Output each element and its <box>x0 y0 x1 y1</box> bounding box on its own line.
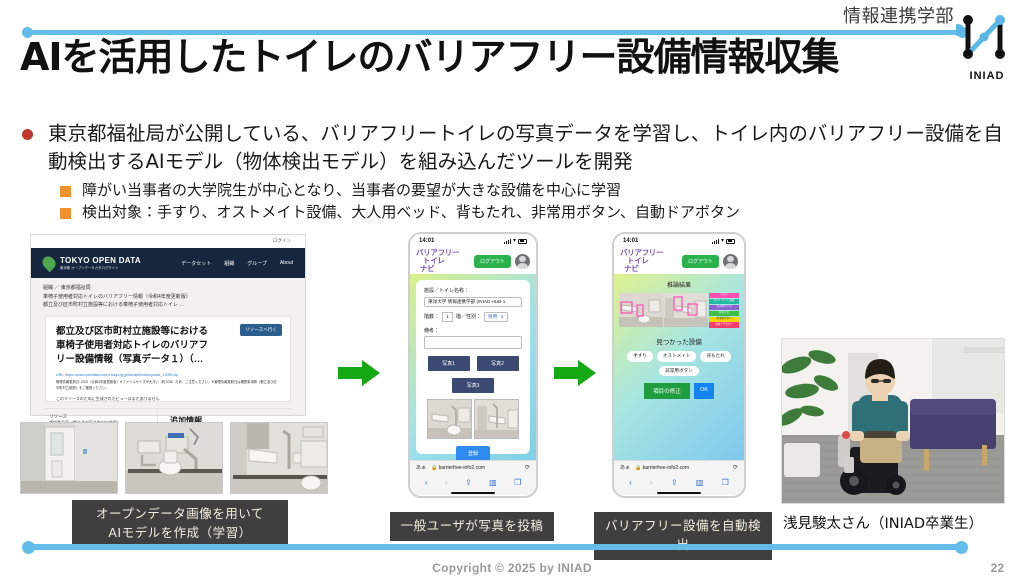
sub-bullet-2: 検出対象：手すり、オストメイト設備、大人用ベッド、背もたれ、非常用ボタン、自動ド… <box>60 203 740 222</box>
opendata-card-url[interactable]: URL: https://www.opendata.metro.tokyo.lg… <box>56 373 280 377</box>
square-bullet-icon <box>60 186 71 197</box>
phone2-url-text: barrierfree-info2.com <box>643 465 689 471</box>
floor-gender-row: 階数： 1 階／性別： 男用 ⇅ <box>424 312 522 322</box>
phone2-url[interactable]: 🔒 barrierfree-info2.com <box>635 465 689 471</box>
slide: 情報連携学部 AIを活用したトイレのバリアフリー設備情報収集 INIAD 東京都… <box>0 0 1024 580</box>
main-bullet-text: 東京都福祉局が公開している、バリアフリートイレの写真データを学習し、トイレ内のバ… <box>48 120 1012 175</box>
opendata-brand: TOKYO OPEN DATA 東京都 オープンデータカタログサイト <box>60 256 141 270</box>
phone-post-photo: 14:01 ▾ バリアフリー トイレ ナビ ログアウト 施設／トイレ名称： 東洋… <box>408 232 538 498</box>
phone2-status-bar: 14:01 ▾ <box>614 234 744 248</box>
result-images: 手すり オストメイト設備 大人用ベッド 背もたれ 非常用ボタン 自動ドアボタン <box>619 293 739 328</box>
phone2-content: 推論結果 <box>614 274 744 460</box>
note-field-input[interactable] <box>424 336 522 349</box>
toilet-door-photo <box>21 423 118 494</box>
arrow-step-1-to-2 <box>336 358 382 388</box>
page-title: AIを活用したトイレのバリアフリー設備情報収集 <box>20 26 839 81</box>
gender-field-label: 階／性別： <box>456 313 481 320</box>
phone1-url[interactable]: 🔒 barrierfree-info2.com <box>431 465 485 471</box>
page-number: 22 <box>991 561 1004 575</box>
photo-3-button[interactable]: 写真3 <box>452 378 494 393</box>
result-action-row: 項目の修正 OK <box>619 383 739 399</box>
phone2-browser-toolbar: ‹ › ⇪ ▥ ❐ <box>614 474 744 490</box>
share-icon[interactable]: ⇪ <box>671 478 678 487</box>
uploaded-photo-1[interactable] <box>427 399 472 439</box>
back-icon[interactable]: ‹ <box>629 478 632 487</box>
legend-item-4: 非常用ボタン <box>709 317 739 322</box>
phone1-url-text: barrierfree-info2.com <box>439 465 485 471</box>
edit-items-button[interactable]: 項目の修正 <box>644 383 690 399</box>
breadcrumb-line-2[interactable]: 車椅子使用者対応トイレのバリアフリー情報（令和4年度更新版） <box>43 293 293 302</box>
wifi-icon: ▾ <box>721 238 724 244</box>
chip-handrail[interactable]: 手すり <box>627 351 653 362</box>
wheelchair-user-photo <box>782 339 1005 504</box>
right-arrow-icon <box>552 358 598 388</box>
arrow-step-2-to-3 <box>552 358 598 388</box>
phone1-browser-toolbar: ‹ › ⇪ ▥ ❐ <box>410 474 536 490</box>
phone2-clock: 14:01 <box>623 238 638 244</box>
tabs-icon[interactable]: ❐ <box>722 478 729 487</box>
signal-icon <box>504 239 511 244</box>
detected-photo-a <box>619 293 663 327</box>
floor-field-input[interactable]: 1 <box>442 312 453 322</box>
legend-item-2: 大人用ベッド <box>709 305 739 310</box>
toilet-handrail-photo <box>126 423 223 494</box>
right-arrow-icon <box>336 358 382 388</box>
phone1-status-bar: 14:01 ▾ <box>410 234 536 248</box>
opendata-menu-group[interactable]: グループ <box>247 260 267 267</box>
app-logo-line-3: ナビ <box>620 265 663 273</box>
footer-rule <box>22 543 968 551</box>
post-form: 施設／トイレ名称： 東洋大学 情報連携学部 (INIAD HUB-1 階数： 1… <box>416 280 530 454</box>
gender-select[interactable]: 男用 ⇅ <box>484 312 508 322</box>
chip-emergency-button[interactable]: 非常用ボタン <box>659 366 699 377</box>
result-image-1 <box>619 293 663 327</box>
found-facilities-chips: 手すり オストメイト 背もたれ <box>619 351 739 362</box>
logout-button[interactable]: ログアウト <box>682 255 719 268</box>
goto-resource-button[interactable]: リソースへ行く <box>240 324 282 336</box>
battery-icon <box>726 239 735 244</box>
iniad-logo: INIAD <box>956 6 1018 82</box>
place-field-input[interactable]: 東洋大学 情報連携学部 (INIAD HUB-1 <box>424 297 522 307</box>
legend-item-3: 背もたれ <box>709 311 739 316</box>
gender-select-value: 男用 <box>488 314 497 320</box>
sub-bullet-1-text: 障がい当事者の大学院生が中心となり、当事者の要望が大きな設備を中心に学習 <box>82 181 621 200</box>
copyright: Copyright © 2025 by INIAD <box>0 561 1024 575</box>
share-icon[interactable]: ⇪ <box>465 478 472 487</box>
chevron-down-icon: ⇅ <box>500 314 503 319</box>
opendata-menu-org[interactable]: 組織 <box>224 260 234 267</box>
sub-bullet-2-text: 検出対象：手すり、オストメイト設備、大人用ベッド、背もたれ、非常用ボタン、自動ド… <box>82 203 740 222</box>
uploaded-photo-previews <box>424 399 522 439</box>
person-photo <box>781 338 1005 504</box>
detection-legend: 手すり オストメイト設備 大人用ベッド 背もたれ 非常用ボタン 自動ドアボタン <box>709 293 739 328</box>
reload-icon[interactable]: ⟳ <box>733 464 738 471</box>
legend-item-1: オストメイト設備 <box>709 299 739 304</box>
bookmarks-icon[interactable]: ▥ <box>696 478 704 487</box>
iniad-logo-text: INIAD <box>956 70 1018 82</box>
caption-person: 浅見駿太さん（INIAD卒業生） <box>783 512 983 533</box>
photo-button-row-2: 写真3 <box>424 378 522 393</box>
opendata-menu: データセット 組織 グループ About <box>181 260 293 267</box>
bullet-dot-icon <box>22 129 33 140</box>
opendata-menu-dataset[interactable]: データセット <box>181 260 211 267</box>
phone1-clock: 14:01 <box>419 238 434 244</box>
detected-photo-b <box>664 293 708 327</box>
opendata-card-title: 都立及び区市町村立施設等における車椅子使用者対応トイレのバリアフリー設備情報（写… <box>56 325 217 368</box>
photo-button-row-1: 写真1 写真2 <box>424 356 522 371</box>
found-facilities-chips-row2: 非常用ボタン <box>619 366 739 377</box>
leaf-icon <box>40 254 58 272</box>
phone2-home-indicator <box>614 490 744 495</box>
submit-button[interactable]: 登録 <box>456 446 490 461</box>
thumbnail-sink-area <box>230 422 328 494</box>
wifi-icon: ▾ <box>513 238 516 244</box>
forward-icon[interactable]: › <box>445 478 448 487</box>
footer-rule-bar <box>30 544 960 550</box>
square-bullet-icon <box>60 208 71 219</box>
footer-rule-right-cap <box>955 541 968 554</box>
photo-1-button[interactable]: 写真1 <box>428 356 470 371</box>
phone1-content: 施設／トイレ名称： 東洋大学 情報連携学部 (INIAD HUB-1 階数： 1… <box>410 274 536 460</box>
phone2-app-header: バリアフリー トイレ ナビ ログアウト <box>614 248 744 274</box>
signal-icon <box>712 239 719 244</box>
chip-ostomate[interactable]: オストメイト <box>657 351 697 362</box>
phone-detection-result: 14:01 ▾ バリアフリー トイレ ナビ ログアウト 推論結果 <box>612 232 746 498</box>
toilet-photo-a <box>428 400 472 439</box>
phone1-url-bar: あぁ 🔒 barrierfree-info2.com ⟳ <box>410 460 536 474</box>
phone1-app-header: バリアフリー トイレ ナビ ログアウト <box>410 248 536 274</box>
training-image-thumbnails <box>20 422 328 494</box>
text-size-icon[interactable]: あぁ <box>620 464 630 471</box>
opendata-topbar: ログイン <box>31 235 305 248</box>
main-bullet: 東京都福祉局が公開している、バリアフリートイレの写真データを学習し、トイレ内のバ… <box>22 120 1012 175</box>
back-icon[interactable]: ‹ <box>425 478 428 487</box>
result-image-2 <box>664 293 708 327</box>
thumbnail-toilet-with-handrail <box>125 422 223 494</box>
floor-field-label: 階数： <box>424 313 439 320</box>
opendata-navbar: TOKYO OPEN DATA 東京都 オープンデータカタログサイト データセッ… <box>31 248 305 278</box>
note-field-label: 備考： <box>424 327 522 334</box>
opendata-card-meta: 管理情報更新日: 2022（令和4年度更新版）※ファイルサイズが大きい（約1GB… <box>56 380 280 391</box>
logout-button[interactable]: ログアウト <box>474 255 511 268</box>
phone2-status-icons: ▾ <box>712 238 735 244</box>
tabs-icon[interactable]: ❐ <box>514 478 521 487</box>
opendata-resource-label: リソース <box>49 413 153 420</box>
breadcrumb: 組織 ／ 東京都福祉局 車椅子使用者対応トイレのバリアフリー情報（令和4年度更新… <box>31 278 305 312</box>
legend-item-0: 手すり <box>709 293 739 298</box>
opendata-screenshot: ログイン TOKYO OPEN DATA 東京都 オープンデータカタログサイト … <box>30 234 306 416</box>
toilet-photo-b <box>475 400 519 439</box>
avatar[interactable] <box>723 254 738 269</box>
opendata-brand-main: TOKYO OPEN DATA <box>60 256 141 265</box>
app-logo: バリアフリー トイレ ナビ <box>620 249 663 273</box>
sub-bullet-1: 障がい当事者の大学院生が中心となり、当事者の要望が大きな設備を中心に学習 <box>60 181 621 200</box>
ok-button[interactable]: OK <box>694 383 714 399</box>
phone1-home-indicator <box>410 490 536 495</box>
uploaded-photo-2[interactable] <box>474 399 519 439</box>
department-label: 情報連携学部 <box>843 2 954 28</box>
opendata-card-note: このリソースのために生成されたビューはまだありません <box>56 396 280 402</box>
breadcrumb-line-1[interactable]: 組織 ／ 東京都福祉局 <box>43 284 293 293</box>
app-logo-line-3: ナビ <box>416 265 459 273</box>
thumbnail-door <box>20 422 118 494</box>
chip-backrest[interactable]: 背もたれ <box>700 351 730 362</box>
reload-icon[interactable]: ⟳ <box>525 464 530 471</box>
found-facilities-title: 見つかった設備 <box>619 336 739 346</box>
iniad-logo-mark <box>956 6 1018 68</box>
battery-icon <box>518 239 527 244</box>
avatar[interactable] <box>515 254 530 269</box>
opendata-login-link[interactable]: ログイン <box>273 238 291 244</box>
caption-step-1-line-1: オープンデータ画像を用いて <box>82 505 278 524</box>
breadcrumb-line-3[interactable]: 都立及び区市町村立施設等における車椅子使用者対応トイレ … <box>43 301 293 310</box>
legend-item-5: 自動ドアボタン <box>709 322 739 327</box>
forward-icon[interactable]: › <box>650 478 653 487</box>
result-title: 推論結果 <box>619 280 739 289</box>
text-size-icon[interactable]: あぁ <box>416 464 426 471</box>
opendata-brand-sub: 東京都 オープンデータカタログサイト <box>60 265 141 270</box>
phone2-url-bar: あぁ 🔒 barrierfree-info2.com ⟳ <box>614 460 744 474</box>
toilet-sink-photo <box>231 423 328 494</box>
bookmarks-icon[interactable]: ▥ <box>489 478 497 487</box>
photo-2-button[interactable]: 写真2 <box>477 356 519 371</box>
phone1-status-icons: ▾ <box>504 238 527 244</box>
app-logo: バリアフリー トイレ ナビ <box>416 249 459 273</box>
opendata-menu-about[interactable]: About <box>280 260 293 267</box>
opendata-resource-card: リソースへ行く 都立及び区市町村立施設等における車椅子使用者対応トイレのバリアフ… <box>45 316 291 402</box>
place-field-label: 施設／トイレ名称： <box>424 287 522 294</box>
